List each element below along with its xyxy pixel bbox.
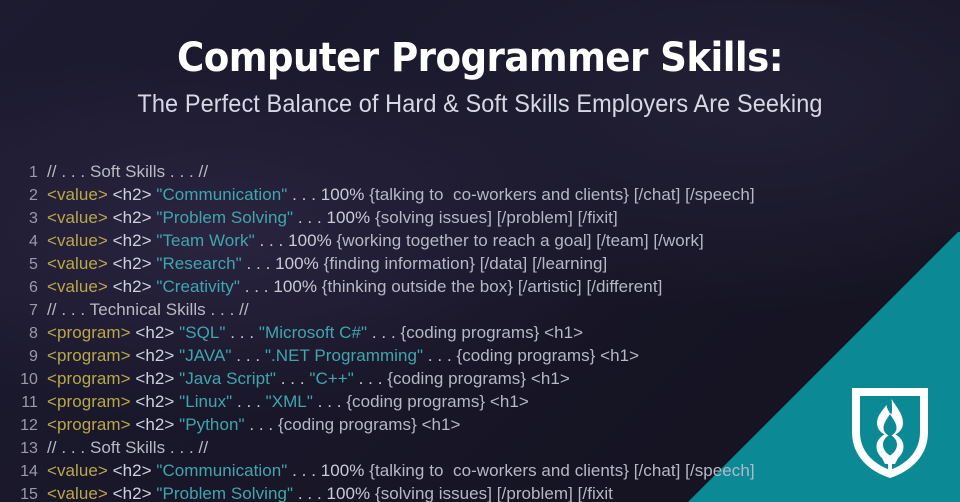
code-token: "Java Script"	[179, 369, 276, 388]
code-line-text: // . . . Technical Skills . . . //	[47, 298, 960, 321]
code-token: [/problem] [/fixit]	[492, 208, 618, 227]
code-line-text: <value> <h2> "Problem Solving" . . . 100…	[47, 482, 960, 502]
code-token: [/chat] [/speech]	[629, 461, 755, 480]
code-token: . . .	[293, 484, 326, 502]
code-token: 100%	[321, 185, 365, 204]
code-line-text: <value> <h2> "Creativity" . . . 100% {th…	[47, 275, 960, 298]
line-number: 7	[0, 299, 47, 322]
code-token: . . .	[293, 208, 326, 227]
code-token: <h2>	[135, 323, 174, 342]
line-number: 2	[0, 184, 47, 207]
code-line: 10<program> <h2> "Java Script" . . . "C+…	[0, 367, 960, 390]
code-token: {thinking outside the box}	[317, 277, 513, 296]
code-line-text: <value> <h2> "Problem Solving" . . . 100…	[47, 206, 960, 229]
line-number: 5	[0, 253, 47, 276]
code-token: // . . . Soft Skills . . . //	[47, 438, 208, 457]
code-token: {coding programs}	[346, 392, 485, 411]
code-line-text: <program> <h2> "Linux" . . . "XML" . . .…	[47, 390, 960, 413]
code-token: . . .	[245, 415, 278, 434]
code-line: 4<value> <h2> "Team Work" . . . 100% {wo…	[0, 229, 960, 252]
code-line: 9<program> <h2> "JAVA" . . . ".NET Progr…	[0, 344, 960, 367]
code-token: <value>	[47, 185, 108, 204]
code-line-text: <program> <h2> "Java Script" . . . "C++"…	[47, 367, 960, 390]
code-token: . . .	[240, 277, 273, 296]
code-token: . . .	[276, 369, 309, 388]
code-listing: 1// . . . Soft Skills . . . //2<value> <…	[0, 160, 960, 502]
code-token: <h2>	[113, 254, 152, 273]
line-number: 14	[0, 460, 47, 483]
line-number: 3	[0, 207, 47, 230]
code-token: "Creativity"	[156, 277, 240, 296]
code-line-text: <value> <h2> "Team Work" . . . 100% {wor…	[47, 229, 960, 252]
code-token: . . .	[255, 231, 288, 250]
code-token: <value>	[47, 484, 108, 502]
code-token: "Communication"	[156, 185, 287, 204]
shield-flame-logo	[848, 384, 932, 480]
code-token: <h2>	[113, 461, 152, 480]
infographic-canvas: Computer Programmer Skills: The Perfect …	[0, 0, 960, 502]
code-line-text: <program> <h2> "JAVA" . . . ".NET Progra…	[47, 344, 960, 367]
code-token: . . .	[225, 323, 258, 342]
code-token: . . .	[232, 392, 265, 411]
code-token: {coding programs}	[457, 346, 596, 365]
code-line: 14<value> <h2> "Communication" . . . 100…	[0, 459, 960, 482]
code-token: . . .	[232, 346, 265, 365]
page-title: Computer Programmer Skills:	[34, 0, 927, 80]
code-token: ".NET Programming"	[265, 346, 423, 365]
code-token: <h2>	[113, 185, 152, 204]
line-number: 1	[0, 161, 47, 184]
code-token: "Problem Solving"	[156, 208, 293, 227]
code-line: 12<program> <h2> "Python" . . . {coding …	[0, 413, 960, 436]
code-token: [/team] [/work]	[592, 231, 704, 250]
code-token: <program>	[47, 415, 131, 434]
code-token: "Microsoft C#"	[259, 323, 367, 342]
code-token: [/artistic] [/different]	[513, 277, 662, 296]
code-token: "C++"	[309, 369, 353, 388]
code-token: <h1>	[485, 392, 529, 411]
code-token: 100%	[327, 208, 371, 227]
code-token: 100%	[288, 231, 332, 250]
code-token: "Team Work"	[156, 231, 254, 250]
code-token: . . .	[242, 254, 275, 273]
code-token: {coding programs}	[401, 323, 540, 342]
line-number: 6	[0, 276, 47, 299]
line-number: 4	[0, 230, 47, 253]
code-token: . . .	[287, 461, 320, 480]
code-line-text: <program> <h2> "Python" . . . {coding pr…	[47, 413, 960, 436]
code-line: 11<program> <h2> "Linux" . . . "XML" . .…	[0, 390, 960, 413]
line-number: 15	[0, 483, 47, 502]
code-token: 100%	[275, 254, 319, 273]
code-line-text: // . . . Soft Skills . . . //	[47, 160, 960, 183]
code-token: "Research"	[156, 254, 241, 273]
code-line: 5<value> <h2> "Research" . . . 100% {fin…	[0, 252, 960, 275]
code-token: <program>	[47, 392, 131, 411]
code-token: {talking to co-workers and clients}	[364, 461, 629, 480]
code-token: // . . . Soft Skills . . . //	[47, 162, 208, 181]
code-line: 7// . . . Technical Skills . . . //	[0, 298, 960, 321]
code-token: [/chat] [/speech]	[629, 185, 755, 204]
line-number: 8	[0, 322, 47, 345]
code-token: <h2>	[135, 369, 174, 388]
code-token: . . .	[354, 369, 387, 388]
code-line-text: <value> <h2> "Communication" . . . 100% …	[47, 459, 960, 482]
code-line: 15<value> <h2> "Problem Solving" . . . 1…	[0, 482, 960, 502]
code-token: "Python"	[179, 415, 244, 434]
code-token: <value>	[47, 277, 108, 296]
code-token: <h2>	[135, 346, 174, 365]
code-token: <h2>	[113, 231, 152, 250]
code-token: <value>	[47, 208, 108, 227]
code-token: <h1>	[595, 346, 639, 365]
code-token: <value>	[47, 231, 108, 250]
page-subtitle: The Perfect Balance of Hard & Soft Skill…	[29, 80, 931, 119]
code-token: <program>	[47, 346, 131, 365]
code-line: 6<value> <h2> "Creativity" . . . 100% {t…	[0, 275, 960, 298]
code-token: {talking to co-workers and clients}	[364, 185, 629, 204]
code-token: "Linux"	[179, 392, 232, 411]
code-token: [/problem] [/fixit	[492, 484, 613, 502]
code-token: {solving issues]	[370, 484, 492, 502]
code-token: "Problem Solving"	[156, 484, 293, 502]
code-token: <h1>	[417, 415, 461, 434]
code-line-text: <value> <h2> "Communication" . . . 100% …	[47, 183, 960, 206]
code-token: {coding programs}	[278, 415, 417, 434]
header: Computer Programmer Skills: The Perfect …	[0, 0, 960, 119]
code-token: <h2>	[113, 208, 152, 227]
code-token: <h2>	[113, 277, 152, 296]
code-line-text: <value> <h2> "Research" . . . 100% {find…	[47, 252, 960, 275]
code-line: 1// . . . Soft Skills . . . //	[0, 160, 960, 183]
code-token: 100%	[273, 277, 317, 296]
code-token: "JAVA"	[179, 346, 231, 365]
code-token: "Communication"	[156, 461, 287, 480]
code-token: 100%	[327, 484, 371, 502]
code-token: . . .	[287, 185, 320, 204]
code-token: . . .	[313, 392, 346, 411]
line-number: 12	[0, 414, 47, 437]
code-token: [/data] [/learning]	[475, 254, 607, 273]
code-token: . . .	[423, 346, 456, 365]
code-token: 100%	[321, 461, 365, 480]
code-line-text: // . . . Soft Skills . . . //	[47, 436, 960, 459]
code-token: "SQL"	[179, 323, 225, 342]
code-line: 8<program> <h2> "SQL" . . . "Microsoft C…	[0, 321, 960, 344]
code-line: 2<value> <h2> "Communication" . . . 100%…	[0, 183, 960, 206]
code-token: <h1>	[539, 323, 583, 342]
code-token: {working together to reach a goal]	[332, 231, 592, 250]
code-token: {finding information}	[319, 254, 475, 273]
code-token: <program>	[47, 369, 131, 388]
code-token: <h2>	[135, 392, 174, 411]
code-line-text: <program> <h2> "SQL" . . . "Microsoft C#…	[47, 321, 960, 344]
code-line: 3<value> <h2> "Problem Solving" . . . 10…	[0, 206, 960, 229]
code-token: <program>	[47, 323, 131, 342]
code-token: <h2>	[113, 484, 152, 502]
line-number: 9	[0, 345, 47, 368]
line-number: 11	[0, 391, 47, 414]
code-token: {solving issues]	[370, 208, 492, 227]
code-token: // . . . Technical Skills . . . //	[47, 300, 249, 319]
code-line: 13// . . . Soft Skills . . . //	[0, 436, 960, 459]
code-token: <h2>	[135, 415, 174, 434]
code-token: "XML"	[266, 392, 313, 411]
code-token: <value>	[47, 254, 108, 273]
line-number: 10	[0, 368, 47, 391]
line-number: 13	[0, 437, 47, 460]
code-token: {coding programs}	[387, 369, 526, 388]
code-token: <value>	[47, 461, 108, 480]
code-token: <h1>	[526, 369, 570, 388]
code-token: . . .	[367, 323, 400, 342]
